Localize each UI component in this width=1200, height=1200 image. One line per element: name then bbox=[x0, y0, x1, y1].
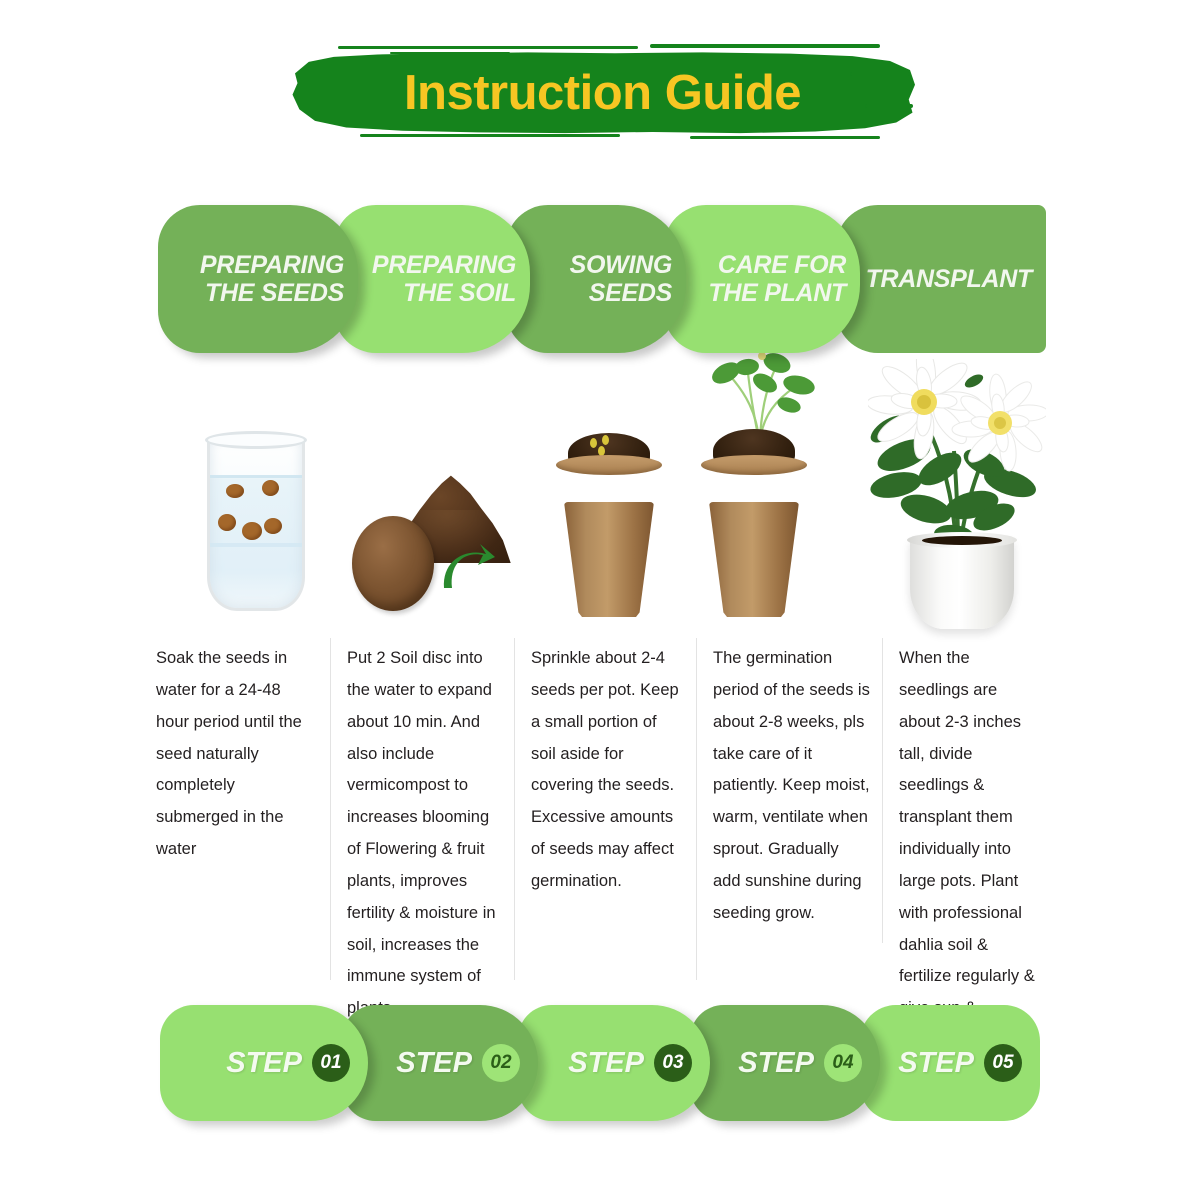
curved-arrow-icon bbox=[436, 538, 496, 596]
seed bbox=[218, 514, 236, 531]
tab-label: TRANSPLANT bbox=[866, 265, 1032, 293]
tab-preparing-the-soil[interactable]: PREPARING THE SOIL bbox=[334, 205, 530, 353]
brush-flick bbox=[650, 44, 880, 48]
step-number: 01 bbox=[312, 1044, 350, 1082]
description-care-for-the-plant: The germination period of the seeds is a… bbox=[696, 638, 882, 980]
description-row: Soak the seeds in water for a 24-48 hour… bbox=[140, 638, 1050, 980]
water-surface-line bbox=[210, 475, 302, 478]
coir-pot-rim bbox=[556, 455, 662, 475]
seed bbox=[262, 480, 279, 496]
coir-pot-body bbox=[564, 502, 654, 617]
flower-bud bbox=[758, 352, 766, 360]
description-sowing-seeds: Sprinkle about 2-4 seeds per pot. Keep a… bbox=[514, 638, 696, 980]
glass-rim bbox=[205, 431, 307, 449]
step-badge-03[interactable]: STEP 03 bbox=[518, 1005, 710, 1121]
step-word: STEP bbox=[568, 1047, 644, 1080]
title-banner: Instruction Guide bbox=[290, 42, 915, 142]
step-number: 03 bbox=[654, 1044, 692, 1082]
step-number: 02 bbox=[482, 1044, 520, 1082]
coir-pot-with-seedling-image bbox=[695, 427, 815, 617]
pot-soil-surface bbox=[922, 536, 1002, 545]
coir-pot-body bbox=[709, 502, 799, 617]
coir-pot-rim bbox=[701, 455, 807, 475]
seed bbox=[226, 484, 244, 498]
step-word: STEP bbox=[738, 1047, 814, 1080]
tab-care-for-the-plant[interactable]: CARE FOR THE PLANT bbox=[664, 205, 860, 353]
page-title: Instruction Guide bbox=[290, 52, 915, 134]
description-transplant: When the seedlings are about 2-3 inches … bbox=[882, 638, 1050, 943]
tab-label: PREPARING THE SOIL bbox=[372, 251, 516, 307]
step-word: STEP bbox=[226, 1047, 302, 1080]
white-ceramic-pot bbox=[910, 537, 1014, 629]
brush-flick bbox=[360, 134, 620, 137]
tab-preparing-the-seeds[interactable]: PREPARING THE SEEDS bbox=[158, 205, 358, 353]
tab-sowing-seeds[interactable]: SOWING SEEDS bbox=[506, 205, 686, 353]
step-badge-01[interactable]: STEP 01 bbox=[160, 1005, 368, 1121]
step-badge-05[interactable]: STEP 05 bbox=[860, 1005, 1040, 1121]
tab-label: PREPARING THE SEEDS bbox=[200, 251, 344, 307]
seed bbox=[264, 518, 282, 534]
seedling-sprout bbox=[701, 343, 819, 443]
dahlia-flower-left bbox=[868, 359, 982, 460]
step-word: STEP bbox=[396, 1047, 472, 1080]
description-preparing-the-seeds: Soak the seeds in water for a 24-48 hour… bbox=[140, 638, 330, 943]
tab-label: CARE FOR THE PLANT bbox=[708, 251, 846, 307]
seed bbox=[242, 522, 262, 540]
step-bar: STEP 01 STEP 02 STEP 03 STEP 04 STEP 05 bbox=[160, 1005, 1040, 1121]
step-badge-02[interactable]: STEP 02 bbox=[342, 1005, 538, 1121]
description-preparing-the-soil: Put 2 Soil disc into the water to expand… bbox=[330, 638, 514, 980]
soil-pile-and-soil-disc-image bbox=[340, 468, 515, 613]
glass-of-water-with-seeds-image bbox=[185, 423, 320, 623]
dahlia-small-leaf bbox=[963, 372, 985, 390]
dahlia-plant-foliage bbox=[868, 359, 1046, 549]
step-number: 05 bbox=[984, 1044, 1022, 1082]
tab-transplant[interactable]: TRANSPLANT bbox=[836, 205, 1046, 353]
brush-flick bbox=[690, 136, 880, 139]
brush-flick bbox=[338, 46, 638, 49]
step-badge-04[interactable]: STEP 04 bbox=[690, 1005, 880, 1121]
seed bbox=[590, 438, 597, 448]
stage-tab-bar: PREPARING THE SEEDS PREPARING THE SOIL S… bbox=[158, 205, 1046, 353]
potted-white-dahlia-image bbox=[868, 339, 1046, 629]
water-reflection-line bbox=[210, 543, 302, 547]
tab-label: SOWING SEEDS bbox=[570, 251, 672, 307]
illustration-row bbox=[150, 340, 1050, 635]
step-word: STEP bbox=[898, 1047, 974, 1080]
compressed-soil-disc bbox=[352, 516, 434, 611]
seed bbox=[602, 435, 609, 445]
coir-pot-with-seeds-image bbox=[550, 427, 670, 617]
step-number: 04 bbox=[824, 1044, 862, 1082]
glass-body bbox=[207, 435, 305, 611]
